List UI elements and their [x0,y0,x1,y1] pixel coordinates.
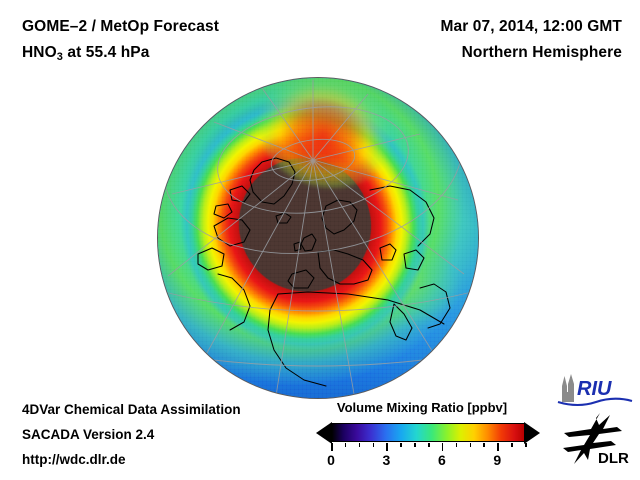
riu-logo: RIU [556,372,634,408]
colorbar-minor-tick [414,443,416,447]
species-subtitle: HNO3 at 55.4 hPa [22,44,149,62]
colorbar-tick-label: 6 [438,452,446,468]
colorbar-tick-label: 3 [383,452,391,468]
colorbar-tick-label: 0 [327,452,335,468]
species-subscript: 3 [57,51,63,63]
credit-line-method: 4DVar Chemical Data Assimilation [22,402,241,417]
colorbar-minor-tick [359,443,361,447]
colorbar-minor-tick [428,443,430,447]
colorbar-minor-tick [345,443,347,447]
globe-map [158,78,478,398]
colorbar-major-tick [386,443,388,451]
colorbar-minor-tick [525,443,527,447]
colorbar-minor-tick [400,443,402,447]
hemisphere-label: Northern Hemisphere [462,44,622,62]
colorbar-minor-tick [511,443,513,447]
page-title: GOME–2 / MetOp Forecast [22,18,219,36]
colorbar-title: Volume Mixing Ratio [ppbv] [331,400,513,415]
colorbar-minor-tick [483,443,485,447]
colorbar-extend-low-icon [316,422,332,444]
credit-line-version: SACADA Version 2.4 [22,427,154,442]
timestamp: Mar 07, 2014, 12:00 GMT [440,18,622,36]
pressure-level: at 55.4 hPa [63,44,150,61]
colorbar-minor-tick [470,443,472,447]
sphere-limb-shading [158,78,478,398]
colorbar-tick-label: 9 [493,452,501,468]
dlr-wordmark: DLR [598,450,629,466]
colorbar-tick-labels: 0369 [316,452,540,472]
dlr-logo: DLR [560,412,636,466]
credit-line-url[interactable]: http://wdc.dlr.de [22,452,126,467]
colorbar-gradient [331,423,525,442]
riu-cathedral-icon [562,374,574,402]
colorbar-minor-tick [456,443,458,447]
colorbar-minor-tick [373,443,375,447]
colorbar-extend-high-icon [524,422,540,444]
riu-wordmark: RIU [577,378,612,400]
colorbar-major-tick [497,443,499,451]
globe-sphere [158,78,478,398]
colorbar [316,422,540,444]
colorbar-major-tick [331,443,333,451]
colorbar-major-tick [442,443,444,451]
species-name: HNO [22,44,57,61]
colorbar-ticks [316,443,540,452]
